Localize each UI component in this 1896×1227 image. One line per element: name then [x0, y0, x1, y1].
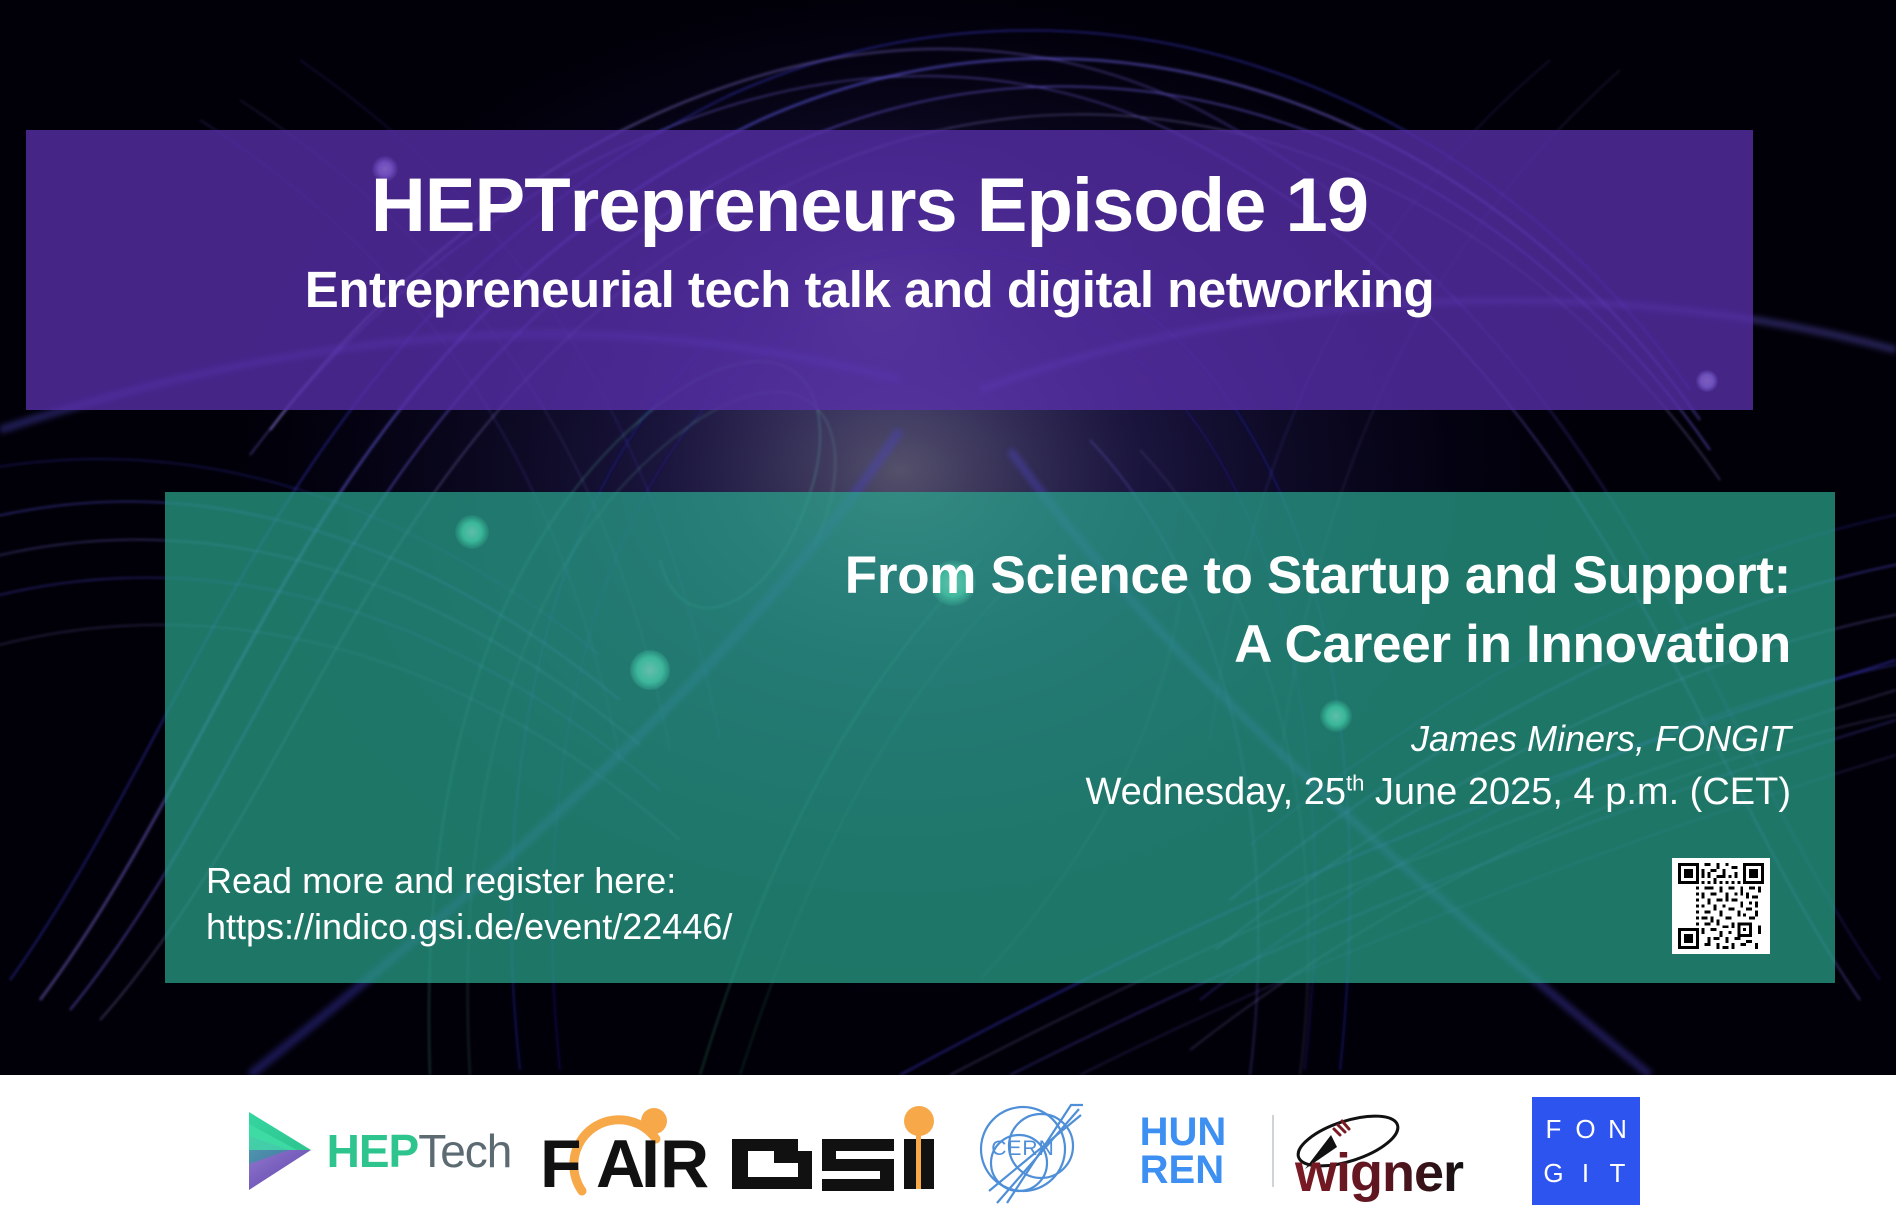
svg-text:R: R [660, 1126, 708, 1202]
register-link[interactable]: https://indico.gsi.de/event/22446/ [206, 904, 732, 950]
fongit-letter-f: F [1546, 1114, 1562, 1145]
datetime-prefix: Wednesday, 25 [1085, 771, 1346, 813]
heptech-text-hep: HEP [327, 1125, 419, 1177]
svg-text:F: F [540, 1126, 580, 1202]
gsi-logo-icon [728, 1099, 938, 1204]
qr-code[interactable] [1672, 858, 1770, 954]
wigner-wordmark: wigner [1294, 1143, 1464, 1203]
logo-gsi[interactable] [718, 1091, 948, 1211]
fongit-letter-i: I [1582, 1158, 1589, 1189]
sponsor-logo-strip: HEPTech F A I R [0, 1075, 1896, 1227]
register-block: Read more and register here: https://ind… [206, 858, 732, 950]
datetime-suffix: June 2025, 4 p.m. (CET) [1364, 771, 1791, 813]
event-poster: HEPTrepreneurs Episode 19 Entrepreneuria… [0, 0, 1896, 1227]
hunren-text-hun: HUN [1140, 1113, 1227, 1151]
datetime-ordinal: th [1346, 770, 1364, 795]
talk-title-line-2: A Career in Innovation [341, 611, 1791, 680]
heptech-arrow-icon [245, 1110, 315, 1192]
talk-title: From Science to Startup and Support: A C… [341, 542, 1791, 680]
fair-logo-icon: F A I R [538, 1099, 708, 1204]
event-datetime: Wednesday, 25th June 2025, 4 p.m. (CET) [341, 770, 1791, 816]
heptech-wordmark: HEPTech [327, 1124, 512, 1178]
logo-fongit[interactable]: F O N G I T [1503, 1091, 1668, 1211]
svg-text:I: I [641, 1126, 658, 1202]
logo-divider [1272, 1115, 1274, 1187]
svg-text:A: A [596, 1126, 644, 1202]
fongit-square: F O N G I T [1532, 1097, 1640, 1205]
logo-cern[interactable]: CERN [948, 1091, 1108, 1211]
fongit-letter-t: T [1610, 1158, 1626, 1189]
talk-title-line-1: From Science to Startup and Support: [341, 542, 1791, 611]
title-rest: repreneurs Episode 19 [570, 163, 1368, 248]
page-subtitle: Entrepreneurial tech talk and digital ne… [26, 264, 1713, 315]
header-banner: HEPTrepreneurs Episode 19 Entrepreneuria… [26, 130, 1753, 410]
wigner-logo-icon: wigner [1293, 1099, 1498, 1204]
hunren-text-ren: REN [1140, 1151, 1227, 1189]
logo-heptech[interactable]: HEPTech [228, 1091, 528, 1211]
register-label: Read more and register here: [206, 860, 676, 901]
logo-wigner[interactable]: wigner [1288, 1091, 1503, 1211]
speaker-name: James Miners, FONGIT [341, 717, 1791, 760]
cern-wordmark: CERN [991, 1137, 1055, 1160]
fongit-letter-o: O [1575, 1114, 1595, 1145]
title-brand: HEPT [371, 163, 570, 248]
logo-hunren[interactable]: HUN REN [1108, 1091, 1258, 1211]
heptech-text-tech: Tech [418, 1125, 511, 1177]
fongit-letter-g: G [1543, 1158, 1563, 1189]
cern-logo-icon: CERN [963, 1091, 1093, 1211]
page-title: HEPTrepreneurs Episode 19 [26, 168, 1713, 244]
logo-fair[interactable]: F A I R [528, 1091, 718, 1211]
talk-banner: From Science to Startup and Support: A C… [165, 492, 1835, 983]
fongit-letter-n: N [1608, 1114, 1627, 1145]
qr-code-icon [1677, 863, 1765, 949]
